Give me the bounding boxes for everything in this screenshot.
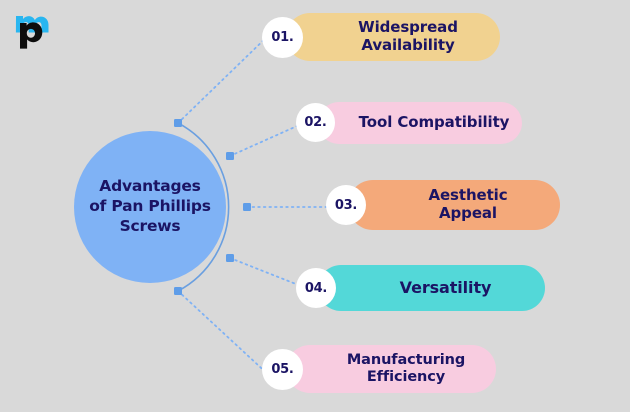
item-badge-5: 05. [262, 349, 303, 390]
item-number-4: 04. [305, 281, 327, 296]
leader-line-2 [230, 122, 306, 156]
list-item-3[interactable]: Aesthetic Appeal 03. [326, 176, 560, 234]
item-pill-2[interactable]: Tool Compatibility [318, 102, 522, 144]
item-badge-1: 01. [262, 17, 303, 58]
arc-node-2 [226, 152, 234, 160]
item-number-5: 05. [271, 362, 293, 377]
leader-line-4 [230, 258, 306, 288]
item-pill-1[interactable]: Widespread Availability [286, 13, 500, 61]
item-number-2: 02. [304, 115, 326, 130]
leader-line-5 [178, 291, 272, 378]
item-label-2: Tool Compatibility [318, 114, 522, 132]
item-label-1: Widespread Availability [286, 19, 500, 54]
logo-svg [10, 8, 62, 52]
item-badge-2: 02. [296, 103, 335, 142]
item-number-1: 01. [271, 30, 293, 45]
item-badge-4: 04. [296, 268, 336, 308]
item-label-4: Versatility [318, 279, 545, 298]
list-item-2[interactable]: Tool Compatibility 02. [296, 99, 522, 147]
arc-node-1 [174, 119, 182, 127]
logo-p-glyph [20, 22, 42, 48]
item-number-3: 03. [335, 198, 357, 213]
pm-monogram-logo [10, 8, 62, 52]
leader-line-1 [178, 32, 272, 123]
page-title: Advantages of Pan Phillips Screws [83, 177, 217, 236]
item-label-5: Manufacturing Efficiency [286, 352, 496, 386]
list-item-1[interactable]: Widespread Availability 01. [262, 8, 500, 66]
central-hub: Advantages of Pan Phillips Screws [74, 131, 226, 283]
item-badge-3: 03. [326, 185, 366, 225]
item-pill-5[interactable]: Manufacturing Efficiency [286, 345, 496, 393]
item-label-3: Aesthetic Appeal [348, 187, 560, 222]
arc-node-3 [243, 203, 251, 211]
list-item-5[interactable]: Manufacturing Efficiency 05. [262, 340, 496, 398]
item-pill-3[interactable]: Aesthetic Appeal [348, 180, 560, 230]
list-item-4[interactable]: Versatility 04. [296, 262, 545, 314]
arc-node-5 [174, 287, 182, 295]
infographic-canvas: Advantages of Pan Phillips Screws Widesp… [0, 0, 630, 412]
arc-node-4 [226, 254, 234, 262]
item-pill-4[interactable]: Versatility [318, 265, 545, 311]
